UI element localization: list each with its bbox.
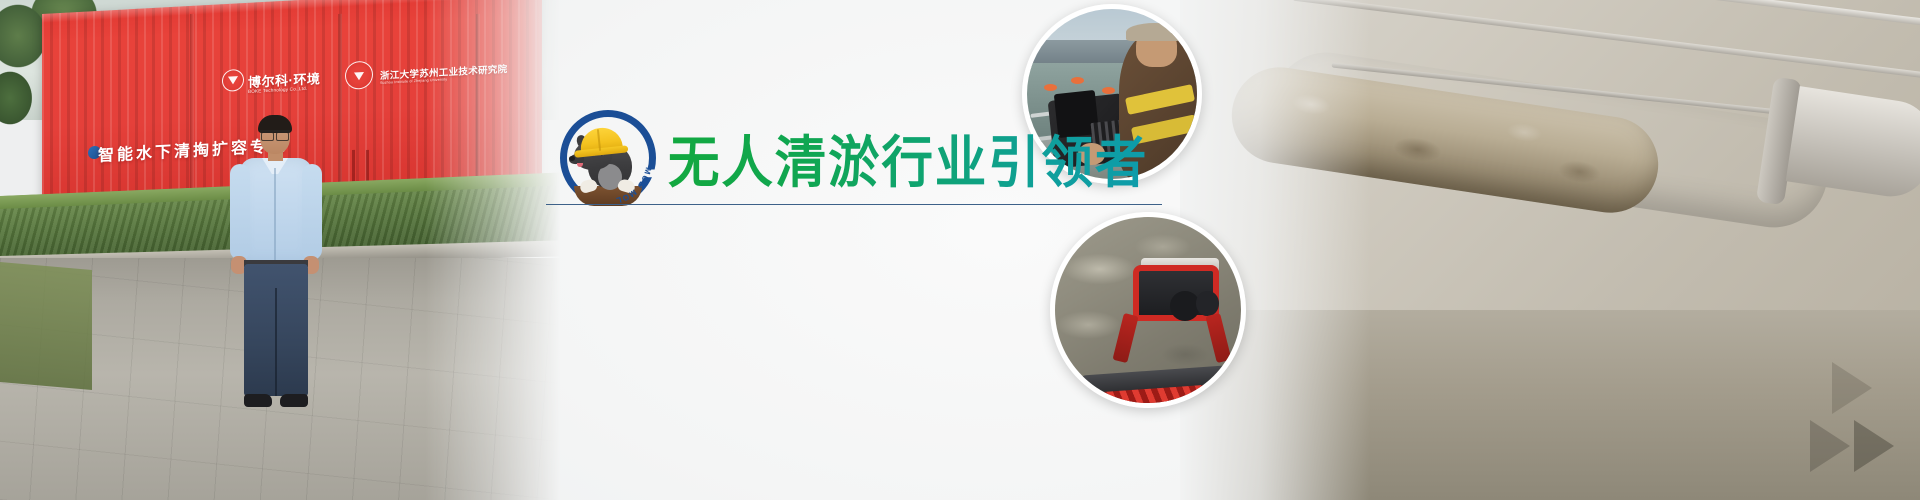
grass-verge	[0, 262, 92, 390]
sludge-discharge-pipe-photo	[1180, 0, 1920, 500]
page-title: 无人清淤行业引领者	[668, 118, 1148, 199]
person-shirt-placket	[274, 168, 276, 260]
container-site-photo: 博尔科·环境 BOKE Technology Co.,Ltd. 浙江大学苏州工业…	[0, 0, 560, 500]
chevron-arrow-icon	[1810, 420, 1850, 472]
banner-center-content: MUD MOLE 无人清淤行业引领者	[540, 0, 1220, 500]
person-shoe-left	[244, 394, 272, 407]
emblem-mark	[228, 77, 238, 86]
person-trousers	[244, 264, 308, 396]
hero-banner: 博尔科·环境 BOKE Technology Co.,Ltd. 浙江大学苏州工业…	[0, 0, 1920, 500]
person-shoe-right	[280, 394, 308, 407]
person-arm-left	[230, 164, 250, 260]
divider	[546, 204, 1162, 205]
chevron-arrow-icon	[1832, 362, 1872, 414]
glasses-icon	[260, 130, 290, 137]
person-standing	[226, 118, 336, 418]
mud-mole-logo: MUD MOLE	[560, 110, 656, 206]
logo-arc-text: MUD MOLE	[560, 110, 656, 206]
chevron-arrow-icon	[1854, 420, 1894, 472]
logo-arc-label: MUD MOLE	[560, 110, 653, 205]
person-arm-right	[302, 164, 322, 260]
emblem-mark	[354, 71, 364, 80]
